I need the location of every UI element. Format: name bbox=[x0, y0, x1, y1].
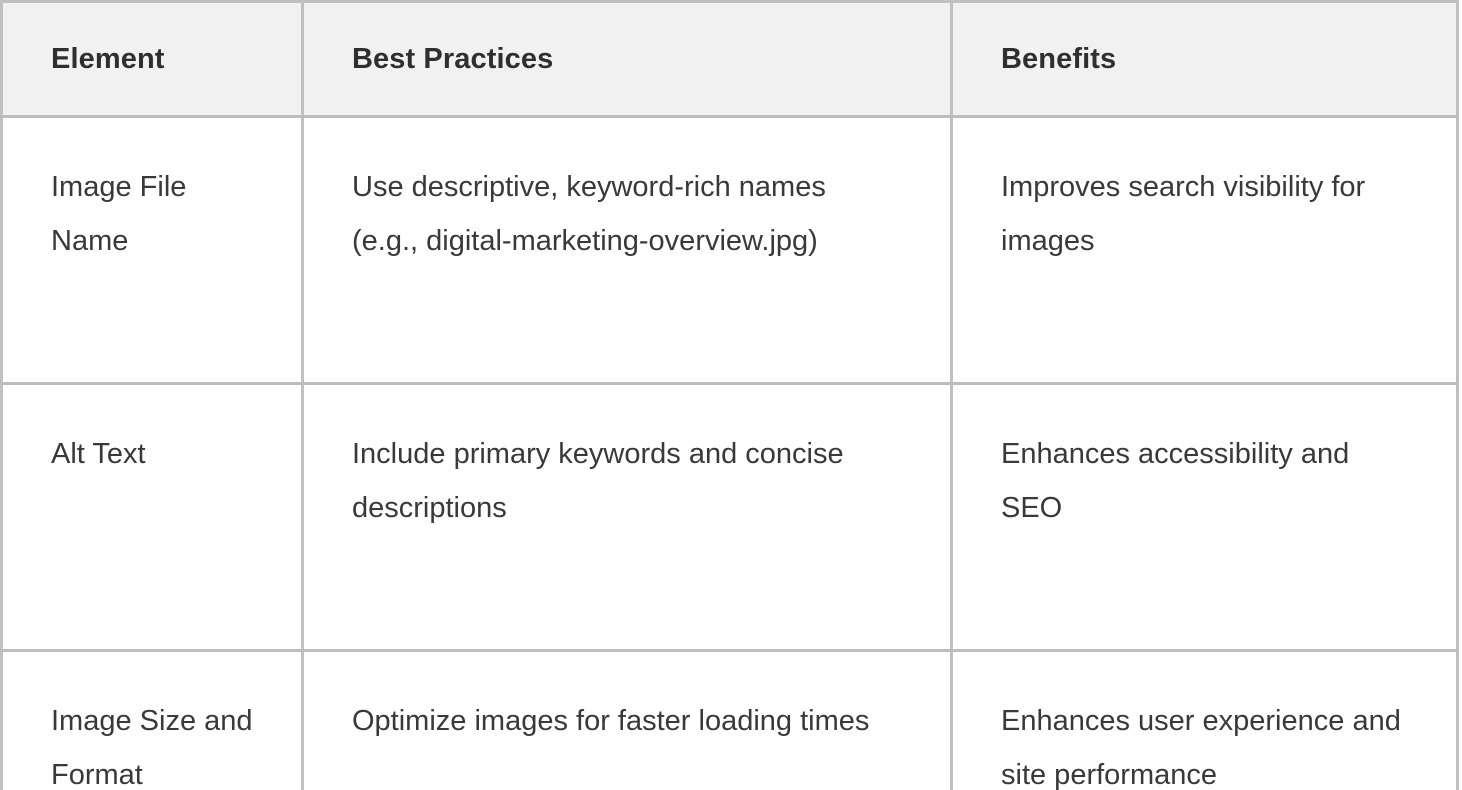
cell-best-practices: Optimize images for faster loading times bbox=[303, 651, 952, 790]
cell-benefits-text: Enhances user experience and site perfor… bbox=[1001, 694, 1416, 790]
image-seo-best-practices-table: Element Best Practices Benefits Image Fi… bbox=[0, 0, 1459, 790]
cell-benefits-text: Enhances accessibility and SEO bbox=[1001, 427, 1416, 535]
table-row: Image File Name Use descriptive, keyword… bbox=[2, 117, 1458, 384]
table-row: Image Size and Format Optimize images fo… bbox=[2, 651, 1458, 790]
cell-benefits-text: Improves search visibility for images bbox=[1001, 160, 1416, 268]
cell-element-text: Image Size and Format bbox=[51, 694, 267, 790]
cell-element: Image Size and Format bbox=[2, 651, 303, 790]
cell-element-text: Alt Text bbox=[51, 427, 267, 481]
cell-element: Alt Text bbox=[2, 384, 303, 651]
table-header-row: Element Best Practices Benefits bbox=[2, 2, 1458, 117]
table-row: Alt Text Include primary keywords and co… bbox=[2, 384, 1458, 651]
cell-best-practices-text: Include primary keywords and concise des… bbox=[352, 427, 890, 535]
table-header: Element Best Practices Benefits bbox=[2, 2, 1458, 117]
cell-best-practices: Include primary keywords and concise des… bbox=[303, 384, 952, 651]
cell-element-text: Image File Name bbox=[51, 160, 267, 268]
cell-benefits: Improves search visibility for images bbox=[952, 117, 1458, 384]
cell-best-practices-text: Optimize images for faster loading times bbox=[352, 694, 890, 748]
cell-element: Image File Name bbox=[2, 117, 303, 384]
table-body: Image File Name Use descriptive, keyword… bbox=[2, 117, 1458, 790]
cell-benefits: Enhances accessibility and SEO bbox=[952, 384, 1458, 651]
table-container: Element Best Practices Benefits Image Fi… bbox=[0, 0, 1462, 790]
cell-benefits: Enhances user experience and site perfor… bbox=[952, 651, 1458, 790]
column-header-best-practices: Best Practices bbox=[303, 2, 952, 117]
column-header-element: Element bbox=[2, 2, 303, 117]
cell-best-practices: Use descriptive, keyword-rich names (e.g… bbox=[303, 117, 952, 384]
column-header-benefits: Benefits bbox=[952, 2, 1458, 117]
cell-best-practices-text: Use descriptive, keyword-rich names (e.g… bbox=[352, 160, 890, 268]
